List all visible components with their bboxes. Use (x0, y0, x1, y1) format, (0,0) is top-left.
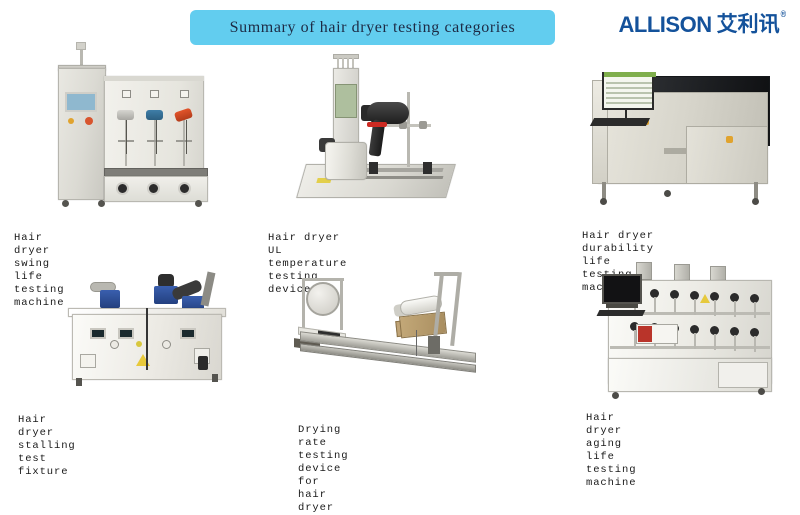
photo-drying-rate-testing-device (288, 268, 488, 410)
registered-trademark-icon: ® (781, 10, 786, 20)
brand-logo: ALLISON 艾利讯 ® (619, 14, 786, 36)
photo-durability-life-testing-machine (578, 62, 783, 217)
chamber-monitor (602, 72, 654, 110)
title-banner: Summary of hair dryer testing categories (190, 10, 555, 45)
caption-swing-life-testing-machine: Hair dryer swing life testing machine (14, 232, 64, 310)
caption-aging-life-testing-machine: Hair dryer aging life testing machine (586, 412, 636, 490)
caption-line-1: Hair dryer aging life testing (586, 412, 636, 477)
caption-stalling-test-fixture: Hair dryer stalling test fixture (18, 414, 76, 479)
logo-wordmark: ALLISON (619, 14, 712, 36)
test-disc (306, 282, 340, 316)
photo-aging-life-testing-machine (592, 258, 787, 408)
photo-stalling-test-fixture (62, 262, 242, 407)
caption-drying-rate-testing-device: Drying rate testing device for hair drye… (298, 424, 348, 515)
caption-line-2: machine (586, 477, 636, 490)
photo-swing-life-testing-machine (40, 40, 215, 220)
photo-ul-temperature-testing-device (295, 50, 455, 215)
aging-machine-monitor (602, 274, 642, 304)
warning-triangle-icon (700, 294, 710, 303)
logo-chinese-name: 艾利讯 (717, 14, 780, 35)
page-title: Summary of hair dryer testing categories (230, 19, 516, 37)
